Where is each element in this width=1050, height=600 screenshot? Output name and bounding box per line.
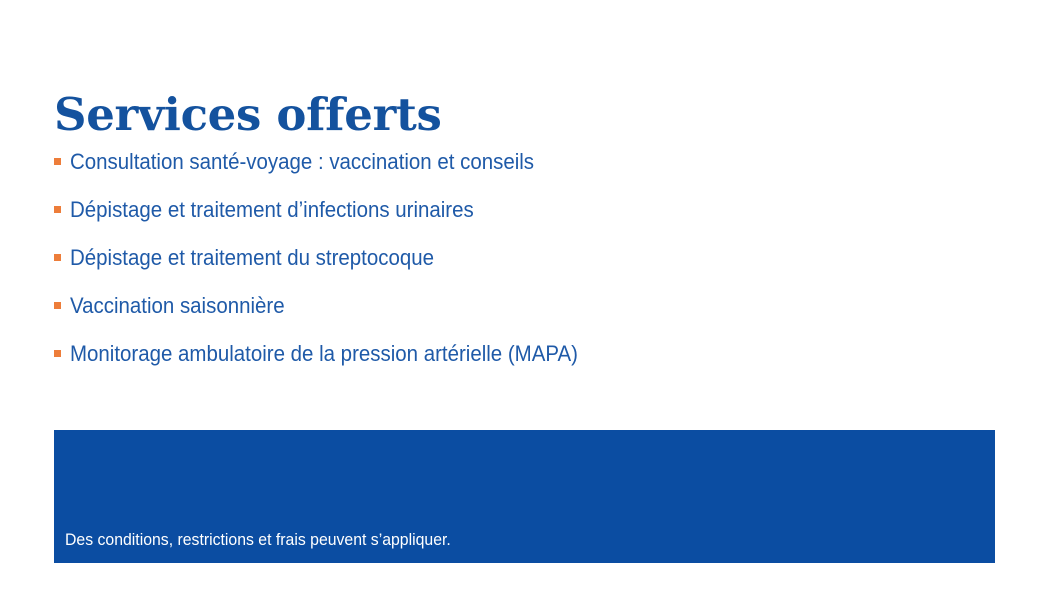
- list-item: Monitorage ambulatoire de la pression ar…: [54, 330, 954, 378]
- list-item: Vaccination saisonnière: [54, 282, 954, 330]
- list-item-label: Monitorage ambulatoire de la pression ar…: [70, 330, 892, 378]
- slide-canvas: Services offerts Consultation santé-voya…: [0, 0, 1050, 600]
- list-item: Consultation santé-voyage : vaccination …: [54, 138, 954, 186]
- list-item-label: Dépistage et traitement d’infections uri…: [70, 186, 892, 234]
- list-item-label: Vaccination saisonnière: [70, 282, 892, 330]
- square-bullet-icon: [54, 302, 61, 309]
- footer-banner: Des conditions, restrictions et frais pe…: [54, 430, 995, 563]
- list-item-label: Dépistage et traitement du streptocoque: [70, 234, 892, 282]
- page-title: Services offerts: [54, 88, 442, 142]
- list-item: Dépistage et traitement d’infections uri…: [54, 186, 954, 234]
- list-item: Dépistage et traitement du streptocoque: [54, 234, 954, 282]
- disclaimer-text: Des conditions, restrictions et frais pe…: [65, 529, 451, 551]
- list-item-label: Consultation santé-voyage : vaccination …: [70, 138, 892, 186]
- services-bullet-list: Consultation santé-voyage : vaccination …: [54, 138, 954, 378]
- square-bullet-icon: [54, 158, 61, 165]
- square-bullet-icon: [54, 206, 61, 213]
- square-bullet-icon: [54, 350, 61, 357]
- square-bullet-icon: [54, 254, 61, 261]
